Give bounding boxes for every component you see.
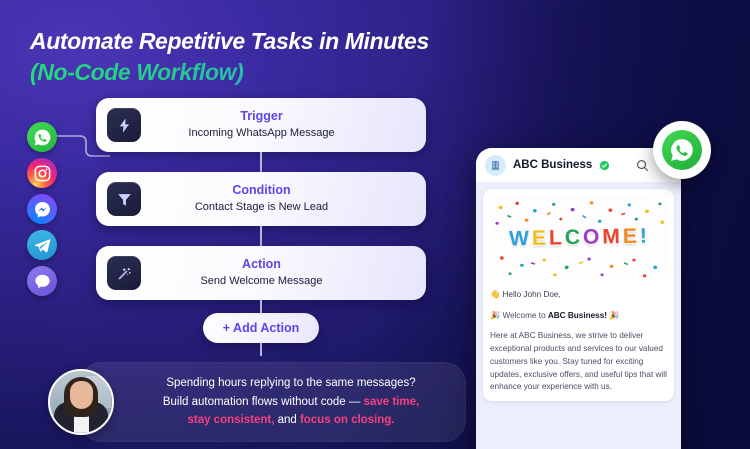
- wave-emoji: 👋: [490, 290, 500, 299]
- phone-mockup: ABC Business: [476, 148, 681, 449]
- social-channel-rail: [27, 122, 57, 302]
- welcome-business-name: ABC Business!: [548, 311, 607, 320]
- step-subtitle: Contact Stage is New Lead: [141, 200, 382, 215]
- building-icon: [485, 155, 506, 176]
- welcome-letter: M: [601, 224, 622, 250]
- caption-highlight-3: focus on closing.: [300, 414, 395, 426]
- caption-line-3: stay consistent, and focus on closing.: [141, 411, 441, 430]
- caption-line-2: Build automation flows without code — sa…: [141, 393, 441, 412]
- flow-connector: [260, 343, 262, 356]
- step-title: Action: [141, 257, 382, 273]
- welcome-prefix: Welcome to: [502, 311, 547, 320]
- chat-business-name: ABC Business: [513, 159, 592, 171]
- welcome-letter: O: [582, 225, 602, 251]
- flow-connector: [260, 152, 262, 172]
- workflow-step-action[interactable]: Action Send Welcome Message: [96, 246, 426, 300]
- promo-banner: Automate Repetitive Tasks in Minutes (No…: [0, 0, 750, 449]
- step-subtitle: Send Welcome Message: [141, 274, 382, 289]
- workflow-step-trigger[interactable]: Trigger Incoming WhatsApp Message: [96, 98, 426, 152]
- chat-header: ABC Business: [476, 148, 681, 182]
- flow-connector: [260, 226, 262, 246]
- welcome-letter: E: [531, 226, 549, 252]
- chat-bubble: WELCOME! 👋 Hello John Doe, 🎉 Welcome to …: [483, 189, 674, 401]
- step-title: Condition: [141, 183, 382, 199]
- page-title: Automate Repetitive Tasks in Minutes: [30, 28, 429, 56]
- caption-highlight-2: stay consistent,: [187, 414, 274, 426]
- funnel-filter-icon: [107, 182, 141, 216]
- welcome-letter: E: [622, 224, 640, 250]
- caption-line-2-text: Build automation flows without code —: [163, 396, 364, 408]
- magic-wand-icon: [107, 256, 141, 290]
- message-greeting: 👋 Hello John Doe,: [490, 289, 667, 302]
- page-subtitle: (No-Code Workflow): [30, 58, 429, 87]
- workflow-step-condition[interactable]: Condition Contact Stage is New Lead: [96, 172, 426, 226]
- greeting-text: Hello John Doe,: [502, 290, 560, 299]
- social-item-instagram[interactable]: [27, 158, 57, 188]
- headings: Automate Repetitive Tasks in Minutes (No…: [30, 28, 429, 86]
- caption-pill: Spending hours replying to the same mess…: [80, 362, 466, 442]
- chat-body: WELCOME! 👋 Hello John Doe, 🎉 Welcome to …: [476, 182, 681, 408]
- flow-connector: [260, 300, 262, 313]
- messenger-icon: [33, 200, 52, 219]
- social-item-whatsapp[interactable]: [27, 122, 57, 152]
- step-subtitle: Incoming WhatsApp Message: [141, 126, 382, 141]
- testimonial-caption: Spending hours replying to the same mess…: [48, 362, 466, 442]
- workflow-builder: Trigger Incoming WhatsApp Message Condit…: [96, 98, 426, 356]
- lightning-bolt-icon: [107, 108, 141, 142]
- telegram-icon: [33, 236, 52, 255]
- instagram-icon: [33, 164, 52, 183]
- caption-conjunction: and: [274, 414, 300, 426]
- chat-message: 👋 Hello John Doe, 🎉 Welcome to ABC Busin…: [490, 289, 667, 394]
- caption-line-1: Spending hours replying to the same mess…: [141, 374, 441, 393]
- step-title: Trigger: [141, 109, 382, 125]
- party-emoji-right: 🎉: [609, 311, 619, 320]
- message-welcome-line: 🎉 Welcome to ABC Business! 🎉: [490, 310, 667, 323]
- social-item-messenger[interactable]: [27, 194, 57, 224]
- welcome-letter: !: [639, 224, 650, 250]
- avatar: [48, 369, 114, 435]
- floating-whatsapp-badge[interactable]: [653, 121, 711, 179]
- welcome-letter: L: [548, 225, 564, 251]
- welcome-letter: W: [508, 226, 531, 252]
- welcome-letters: WELCOME!: [490, 223, 667, 253]
- caption-highlight-1: save time,: [364, 396, 420, 408]
- whatsapp-icon: [669, 137, 695, 163]
- message-body: Here at ABC Business, we strive to deliv…: [490, 330, 667, 394]
- party-emoji-left: 🎉: [490, 311, 500, 320]
- add-action-button[interactable]: + Add Action: [203, 313, 320, 343]
- welcome-banner-image: WELCOME!: [490, 196, 667, 280]
- social-item-chat[interactable]: [27, 266, 57, 296]
- search-icon[interactable]: [635, 158, 650, 173]
- chat-bubble-icon: [33, 272, 52, 291]
- social-item-telegram[interactable]: [27, 230, 57, 260]
- whatsapp-icon: [33, 128, 52, 147]
- verified-badge-icon: [599, 160, 610, 171]
- welcome-letter: C: [564, 225, 583, 251]
